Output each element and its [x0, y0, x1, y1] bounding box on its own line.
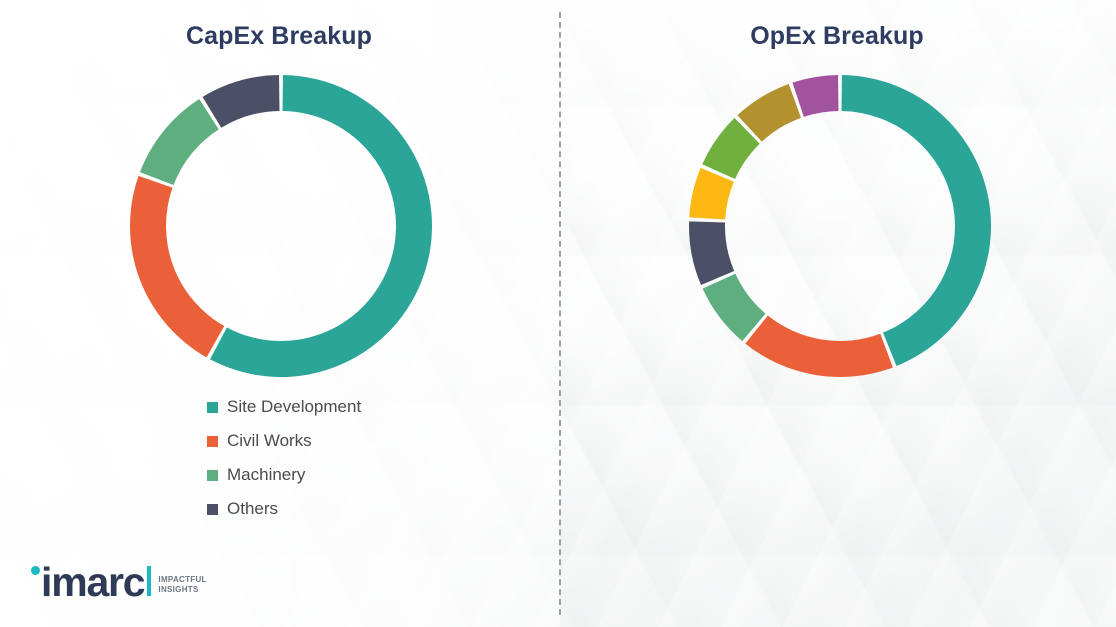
logo-bar-icon	[147, 566, 151, 596]
infographic-stage: CapEx Breakup Site DevelopmentCivil Work…	[0, 0, 1116, 627]
opex-donut-svg	[689, 75, 991, 377]
legend-item[interactable]: Others	[207, 492, 361, 526]
legend-item-label: Others	[227, 499, 278, 519]
legend-swatch-icon	[207, 504, 218, 515]
legend-item-label: Machinery	[227, 465, 305, 485]
donut-slice[interactable]	[689, 221, 734, 285]
logo-dot-icon	[31, 566, 40, 575]
capex-donut-svg	[130, 75, 432, 377]
donut-slice[interactable]	[745, 316, 893, 377]
donut-slice[interactable]	[842, 75, 991, 366]
opex-donut-chart	[689, 75, 991, 377]
logo-tagline-line1: IMPACTFUL	[158, 575, 206, 585]
capex-panel: CapEx Breakup Site DevelopmentCivil Work…	[0, 0, 558, 627]
donut-slice[interactable]	[210, 75, 432, 377]
legend-item-label: Civil Works	[227, 431, 312, 451]
legend-swatch-icon	[207, 402, 218, 413]
opex-chart-title: OpEx Breakup	[558, 22, 1116, 51]
logo-wordmark: imarc	[41, 563, 144, 601]
legend-item-label: Site Development	[227, 397, 361, 417]
donut-slice[interactable]	[793, 75, 839, 117]
legend-item[interactable]: Site Development	[207, 390, 361, 424]
logo-tagline-line2: INSIGHTS	[158, 585, 206, 595]
logo-tagline: IMPACTFUL INSIGHTS	[158, 575, 206, 595]
capex-donut-chart	[130, 75, 432, 377]
capex-legend: Site DevelopmentCivil WorksMachineryOthe…	[207, 390, 361, 526]
capex-chart-title: CapEx Breakup	[0, 22, 558, 51]
donut-slice[interactable]	[689, 168, 734, 220]
donut-slice[interactable]	[203, 75, 280, 128]
legend-swatch-icon	[207, 470, 218, 481]
panel-divider	[559, 12, 561, 615]
opex-panel: OpEx Breakup Raw MaterialsSalaries and W…	[558, 0, 1116, 627]
donut-slice[interactable]	[130, 176, 224, 358]
legend-item[interactable]: Machinery	[207, 458, 361, 492]
legend-item[interactable]: Civil Works	[207, 424, 361, 458]
imarc-logo: imarc IMPACTFUL INSIGHTS	[31, 563, 207, 601]
donut-slice[interactable]	[140, 99, 219, 185]
legend-swatch-icon	[207, 436, 218, 447]
